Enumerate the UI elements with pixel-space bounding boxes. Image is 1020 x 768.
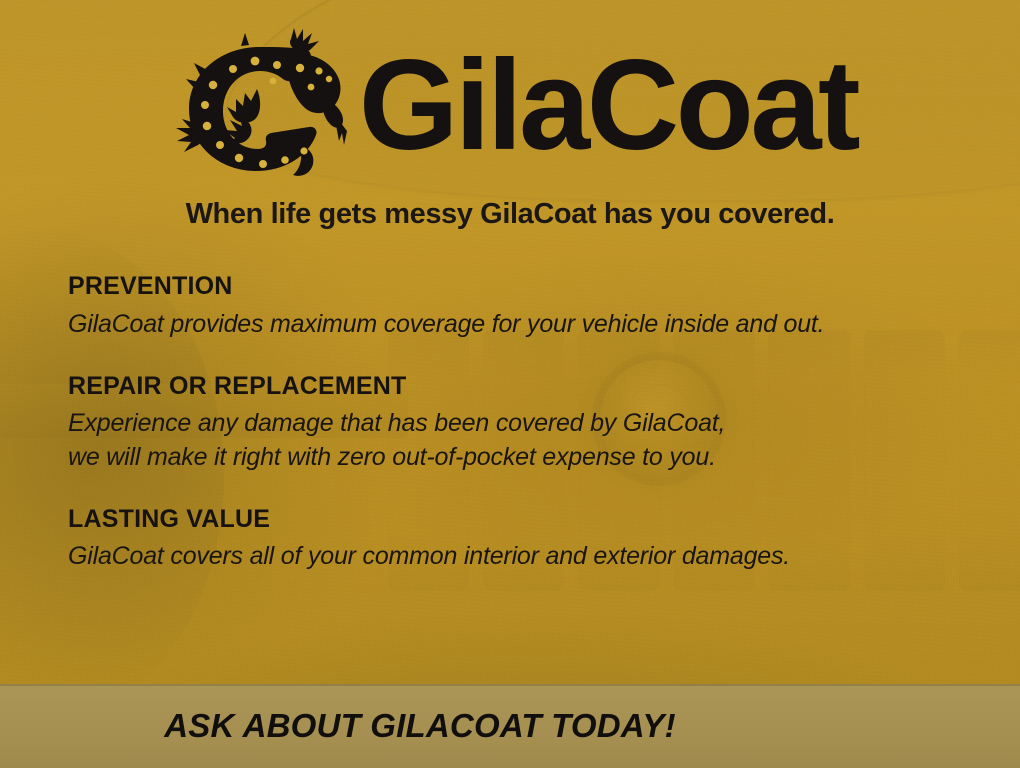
section-body: Experience any damage that has been cove…: [68, 407, 968, 474]
section-heading: PREVENTION: [68, 272, 968, 302]
section-body: GilaCoat provides maximum coverage for y…: [68, 308, 968, 341]
promotional-slide: GilaCoat When life gets messy GilaCoat h…: [0, 0, 1020, 768]
benefit-section-repair-or-replacement: REPAIR OR REPLACEMENT Experience any dam…: [68, 372, 968, 474]
slide-content: GilaCoat When life gets messy GilaCoat h…: [0, 0, 1020, 768]
section-body: GilaCoat covers all of your common inter…: [68, 540, 968, 573]
benefit-sections: PREVENTION GilaCoat provides maximum cov…: [68, 272, 968, 574]
brand-lockup: GilaCoat: [0, 26, 1020, 186]
section-heading: LASTING VALUE: [68, 505, 968, 535]
gila-monster-lizard-g-icon: [163, 27, 353, 185]
section-body-line: GilaCoat provides maximum coverage for y…: [68, 308, 968, 341]
section-body-line: Experience any damage that has been cove…: [68, 407, 968, 440]
footer-cta-band: ASK ABOUT GILACOAT TODAY!: [0, 684, 1020, 768]
section-body-line: we will make it right with zero out-of-p…: [68, 441, 968, 474]
benefit-section-prevention: PREVENTION GilaCoat provides maximum cov…: [68, 272, 968, 341]
brand-tagline: When life gets messy GilaCoat has you co…: [0, 198, 1020, 231]
benefit-section-lasting-value: LASTING VALUE GilaCoat covers all of you…: [68, 505, 968, 574]
brand-wordmark: GilaCoat: [359, 42, 857, 170]
section-heading: REPAIR OR REPLACEMENT: [68, 372, 968, 402]
footer-cta-text: ASK ABOUT GILACOAT TODAY!: [164, 707, 676, 745]
section-body-line: GilaCoat covers all of your common inter…: [68, 540, 968, 573]
